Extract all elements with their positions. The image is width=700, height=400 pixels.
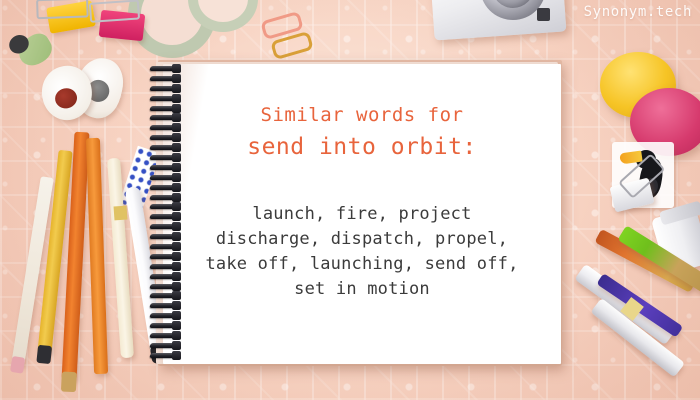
spiral-coil (150, 303, 184, 308)
spiral-coil (150, 155, 184, 160)
spiral-coil (150, 135, 184, 140)
spiral-coil (150, 284, 184, 289)
spiral-coil (150, 106, 184, 111)
spiral-coil (150, 195, 184, 200)
spiral-coil (150, 115, 184, 120)
notebook-page: Similar words for send into orbit: launc… (163, 64, 561, 364)
desk-scene: Similar words for send into orbit: launc… (0, 0, 700, 400)
spiral-coil (150, 204, 184, 209)
spiral-coil (150, 293, 184, 298)
spiral-coil (150, 125, 184, 130)
card-phrase: send into orbit: (163, 132, 561, 162)
spiral-coil (150, 353, 184, 358)
spiral-coil (150, 224, 184, 229)
card-heading: Similar words for (163, 102, 561, 128)
spiral-coil (150, 244, 184, 249)
synonym-line: set in motion (163, 277, 561, 302)
notebook-spiral-binding (148, 66, 188, 358)
synonym-line: take off, launching, send off, (163, 252, 561, 277)
spiral-coil (150, 86, 184, 91)
spiral-coil (150, 76, 184, 81)
spiral-coil (150, 323, 184, 328)
synonym-line: launch, fire, project (163, 202, 561, 227)
camera-button-icon (537, 8, 550, 21)
spiral-coil (150, 96, 184, 101)
pen-cream-band-icon (114, 206, 128, 221)
spiral-coil (150, 333, 184, 338)
spiral-coil (150, 165, 184, 170)
spiral-coil (150, 185, 184, 190)
spiral-coil (150, 274, 184, 279)
notebook: Similar words for send into orbit: launc… (152, 58, 564, 368)
synonym-list: launch, fire, project discharge, dispatc… (163, 202, 561, 302)
spiral-coil (150, 175, 184, 180)
spiral-coil (150, 313, 184, 318)
spiral-coil (150, 66, 184, 71)
binder-clip-pink-icon (99, 10, 146, 41)
spiral-coil (150, 264, 184, 269)
site-watermark: Synonym.tech (584, 4, 692, 20)
spiral-coil (150, 145, 184, 150)
synonym-line: discharge, dispatch, propel, (163, 227, 561, 252)
spiral-coil (150, 234, 184, 239)
spiral-coil (150, 343, 184, 348)
spiral-coil (150, 214, 184, 219)
synonym-card-text: Similar words for send into orbit: launc… (163, 64, 561, 302)
spiral-coil (150, 254, 184, 259)
